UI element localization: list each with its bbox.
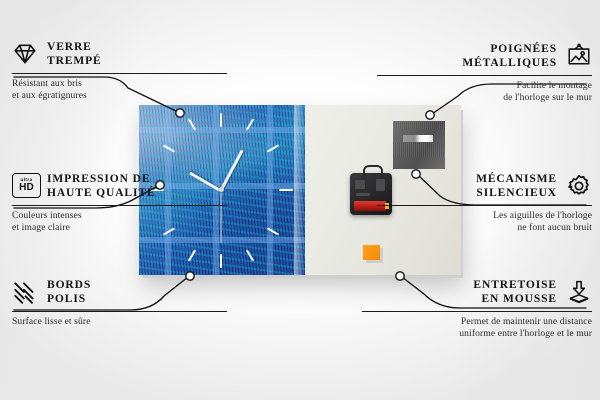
ultra-hd-icon: ultra HD: [12, 173, 38, 199]
callout-rule: [12, 73, 227, 74]
metal-hanging-plate: [393, 121, 445, 169]
callout-title: IMPRESSION DE HAUTE QUALITÉ: [47, 172, 156, 200]
callout-title: BORDS POLIS: [47, 278, 91, 306]
callout-impression-hd[interactable]: ultra HD IMPRESSION DE HAUTE QUALITÉ Cou…: [12, 172, 227, 234]
callout-rule: [362, 311, 592, 312]
callout-mecanisme-silencieux[interactable]: MÉCANISME SILENCIEUX Les aiguilles de l'…: [377, 172, 592, 234]
callout-rule: [377, 205, 592, 206]
callout-verre-trempe[interactable]: VERRE TREMPÉ Résistant aux bris et aux é…: [12, 40, 227, 102]
callout-subtitle: Surface lisse et sûre: [12, 316, 227, 328]
callout-rule: [377, 75, 592, 76]
gear-icon: [566, 173, 592, 199]
foam-spacer-icon: [566, 279, 592, 305]
callout-header: BORDS POLIS: [12, 278, 227, 306]
callout-subtitle: Les aiguilles de l'horloge ne font aucun…: [377, 210, 592, 234]
callout-rule: [12, 205, 227, 206]
callout-poignees-metalliques[interactable]: POIGNÉES MÉTALLIQUES Facilite le montage…: [377, 42, 592, 104]
clock-tick: [220, 113, 222, 127]
hanging-frame-icon: [566, 43, 592, 69]
callout-title: VERRE TREMPÉ: [47, 40, 102, 68]
mechanism-detail: [355, 180, 365, 189]
panel-edge-highlight: [294, 105, 305, 275]
metal-plate-slot: [403, 135, 433, 142]
callout-bords-polis[interactable]: BORDS POLIS Surface lisse et sûre: [12, 278, 227, 328]
ultra-hd-icon-main: HD: [19, 183, 34, 193]
callout-subtitle: Résistant aux bris et aux égratignures: [12, 78, 227, 102]
mechanism-detail: [356, 193, 370, 196]
callout-header: ultra HD IMPRESSION DE HAUTE QUALITÉ: [12, 172, 227, 200]
callout-header: POIGNÉES MÉTALLIQUES: [377, 42, 592, 70]
foam-spacer: [363, 245, 380, 260]
clock-tick: [279, 189, 293, 191]
callout-rule: [12, 311, 227, 312]
clock-tick: [220, 254, 222, 268]
callout-header: VERRE TREMPÉ: [12, 40, 227, 68]
callout-subtitle: Couleurs intenses et image claire: [12, 210, 227, 234]
callout-subtitle: Facilite le montage de l'horloge sur le …: [377, 80, 592, 104]
callout-header: MÉCANISME SILENCIEUX: [377, 172, 592, 200]
callout-title: ENTRETOISE EN MOUSSE: [473, 278, 557, 306]
infographic-canvas: VERRE TREMPÉ Résistant aux bris et aux é…: [0, 0, 600, 400]
callout-title: MÉCANISME SILENCIEUX: [476, 172, 557, 200]
diamond-icon: [12, 41, 38, 67]
polished-edges-icon: [12, 279, 38, 305]
callout-header: ENTRETOISE EN MOUSSE: [362, 278, 592, 306]
callout-subtitle: Permet de maintenir une distance uniform…: [362, 316, 592, 340]
callout-title: POIGNÉES MÉTALLIQUES: [462, 42, 557, 70]
callout-entretoise-mousse[interactable]: ENTRETOISE EN MOUSSE Permet de maintenir…: [362, 278, 592, 340]
